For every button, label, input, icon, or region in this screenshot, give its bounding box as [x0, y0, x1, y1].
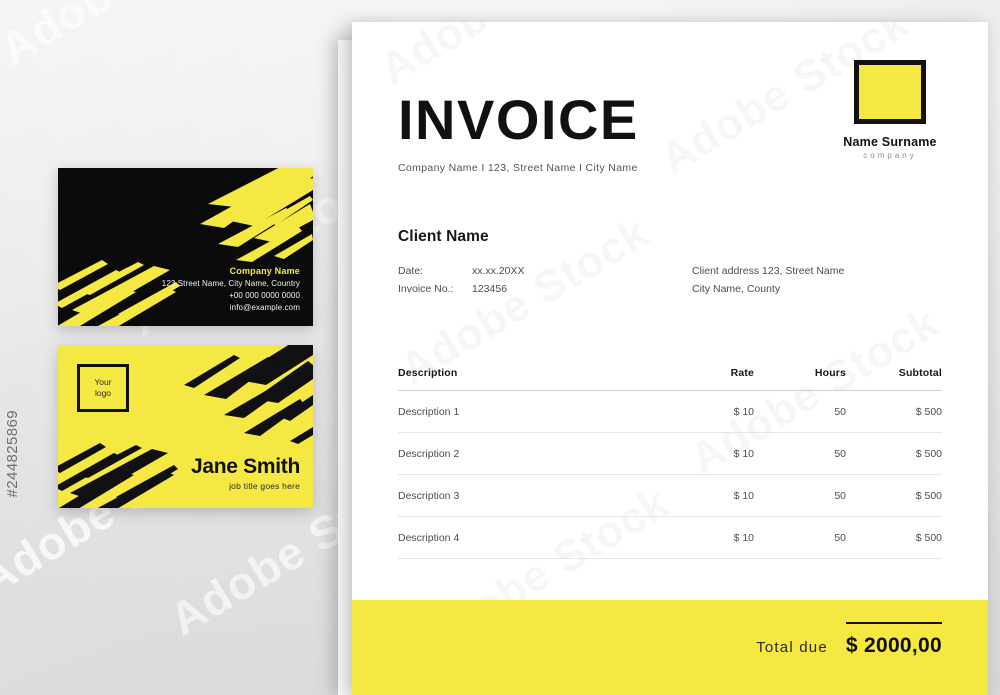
card-email: info@example.com — [162, 303, 300, 312]
business-card-yellow: Your logo Jane Smith job title goes here — [58, 345, 313, 508]
black-card-contact: Company Name 123 Street Name, City Name,… — [162, 266, 300, 312]
cell-rate: $ 10 — [668, 390, 754, 432]
date-value: xx.xx.20XX — [472, 262, 525, 280]
card-phone: +00 000 0000 0000 — [162, 291, 300, 300]
logo-square-icon — [854, 60, 926, 124]
cell-hours: 50 — [754, 474, 846, 516]
total-due-amount: $ 2000,00 — [846, 622, 942, 658]
cell-description: Description 2 — [398, 432, 668, 474]
invoice-no-label: Invoice No.: — [398, 280, 472, 298]
client-address: Client address 123, Street Name City Nam… — [692, 262, 942, 299]
business-card-black: Company Name 123 Street Name, City Name,… — [58, 168, 313, 326]
cell-hours: 50 — [754, 516, 846, 558]
yellow-card-identity: Jane Smith job title goes here — [191, 455, 300, 491]
company-logo-block: Name Surname company — [838, 60, 942, 160]
client-address-line1: Client address 123, Street Name — [692, 262, 942, 280]
cell-rate: $ 10 — [668, 516, 754, 558]
total-due-block: Total due $ 2000,00 — [756, 622, 942, 658]
client-name: Client Name — [398, 228, 942, 246]
cell-subtotal: $ 500 — [846, 390, 942, 432]
invoice-header: INVOICE Company Name I 123, Street Name … — [398, 22, 942, 174]
cell-hours: 50 — [754, 432, 846, 474]
logo-placeholder-line1: Your — [94, 377, 111, 388]
column-header-hours: Hours — [754, 367, 846, 391]
cell-description: Description 3 — [398, 474, 668, 516]
table-row: Description 3 $ 10 50 $ 500 — [398, 474, 942, 516]
card-job-title: job title goes here — [191, 481, 300, 491]
company-address-line: Company Name I 123, Street Name I City N… — [398, 162, 942, 174]
screenshot-canvas: Adobe Stock Adobe Stock Adobe Stock Adob… — [0, 0, 1000, 695]
total-due-label: Total due — [756, 639, 828, 658]
cell-rate: $ 10 — [668, 474, 754, 516]
logo-placeholder-line2: logo — [95, 388, 111, 399]
cell-hours: 50 — [754, 390, 846, 432]
card-person-name: Jane Smith — [191, 455, 300, 479]
date-label: Date: — [398, 262, 472, 280]
column-header-description: Description — [398, 367, 668, 391]
invoice-no-value: 123456 — [472, 280, 525, 298]
card-address: 123 Street Name, City Name, Country — [162, 279, 300, 288]
cell-subtotal: $ 500 — [846, 516, 942, 558]
table-row: Description 2 $ 10 50 $ 500 — [398, 432, 942, 474]
cell-description: Description 1 — [398, 390, 668, 432]
column-header-rate: Rate — [668, 367, 754, 391]
watermark-asset-id: #244825869 — [4, 410, 21, 497]
your-logo-placeholder: Your logo — [77, 364, 129, 412]
client-address-line2: City Name, County — [692, 280, 942, 298]
table-header-row: Description Rate Hours Subtotal — [398, 367, 942, 391]
logo-tagline: company — [838, 151, 942, 160]
cell-description: Description 4 — [398, 516, 668, 558]
column-header-subtotal: Subtotal — [846, 367, 942, 391]
card-company-name: Company Name — [162, 266, 300, 276]
table-row: Description 4 $ 10 50 $ 500 — [398, 516, 942, 558]
invoice-document: Adobe Stock Adobe Stock Adobe Stock Adob… — [352, 22, 988, 695]
invoice-footer: Total due $ 2000,00 — [352, 600, 988, 695]
logo-name: Name Surname — [838, 135, 942, 149]
table-row: Description 1 $ 10 50 $ 500 — [398, 390, 942, 432]
client-section: Client Name Date: Invoice No.: xx.xx.20X… — [398, 228, 942, 299]
cell-subtotal: $ 500 — [846, 474, 942, 516]
cell-subtotal: $ 500 — [846, 432, 942, 474]
line-items-table: Description Rate Hours Subtotal Descript… — [398, 367, 942, 559]
invoice-meta: Date: Invoice No.: xx.xx.20XX 123456 — [398, 262, 525, 299]
cell-rate: $ 10 — [668, 432, 754, 474]
